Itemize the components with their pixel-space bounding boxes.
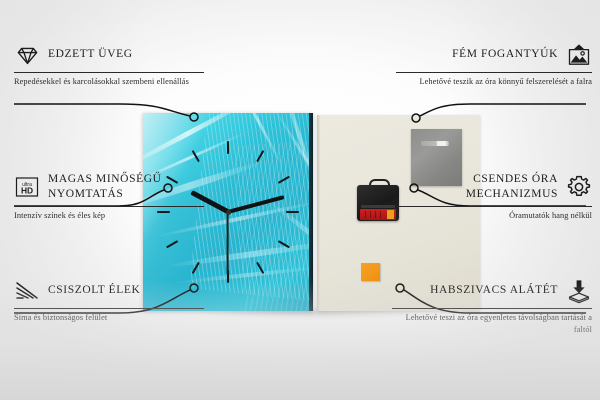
product-infographic: EDZETT ÜVEG Repedésekkel és karcolásokka…: [0, 0, 600, 400]
callout-divider: [396, 206, 592, 207]
callout-divider: [14, 206, 204, 207]
ultra-hd-icon: ultra HD: [14, 174, 40, 200]
glass-panel-edge: [309, 113, 313, 311]
callout-description: Sima és biztonságos felület: [14, 312, 204, 324]
callout-divider: [396, 72, 592, 73]
battery: [360, 209, 396, 220]
callout-title: MAGAS MINŐSÉGŰ NYOMTATÁS: [48, 172, 204, 202]
callout-title: FÉM FOGANTYÚK: [452, 47, 558, 62]
callout-header: CSISZOLT ÉLEK: [14, 278, 204, 304]
diamond-icon: [14, 42, 40, 68]
gear-icon: [566, 174, 592, 200]
mechanism-body: [357, 185, 399, 221]
callout-header: EDZETT ÜVEG: [14, 42, 204, 68]
callout-title: HABSZIVACS ALÁTÉT: [430, 283, 558, 298]
callout-high-quality-print: ultra HD MAGAS MINŐSÉGŰ NYOMTATÁS Intenz…: [14, 172, 204, 222]
callout-title: CSENDES ÓRA MECHANIZMUS: [396, 172, 558, 202]
callout-description: Lehetővé teszi az óra egyenletes távolsá…: [392, 312, 592, 336]
callout-description: Óramutatók hang nélkül: [396, 210, 592, 222]
callout-description: Intenzív színek és éles kép: [14, 210, 204, 222]
callout-divider: [14, 308, 204, 309]
callout-divider: [14, 72, 204, 73]
callout-header: CSENDES ÓRA MECHANIZMUS: [396, 172, 592, 202]
hanger-slot: [421, 141, 449, 146]
clock-minute-hand: [227, 195, 284, 214]
callout-polished-edges: CSISZOLT ÉLEK Sima és biztonságos felüle…: [14, 278, 204, 324]
foam-spacer-pad: [361, 263, 380, 281]
callout-header: FÉM FOGANTYÚK: [396, 42, 592, 68]
foam-pad-icon: [566, 278, 592, 304]
picture-hanger-icon: [566, 42, 592, 68]
callout-header: HABSZIVACS ALÁTÉT: [392, 278, 592, 304]
mechanism-slot: [361, 205, 395, 208]
polished-edges-icon: [14, 278, 40, 304]
callout-header: ultra HD MAGAS MINŐSÉGŰ NYOMTATÁS: [14, 172, 204, 202]
battery-terminal: [387, 210, 394, 219]
callout-metal-handles: FÉM FOGANTYÚK Lehetővé teszik az óra kön…: [396, 42, 592, 88]
callout-title: CSISZOLT ÉLEK: [48, 283, 140, 298]
callout-tempered-glass: EDZETT ÜVEG Repedésekkel és karcolásokka…: [14, 42, 204, 88]
callout-foam-pad: HABSZIVACS ALÁTÉT Lehetővé teszi az óra …: [392, 278, 592, 336]
callout-silent-mechanism: CSENDES ÓRA MECHANIZMUS Óramutatók hang …: [396, 172, 592, 222]
svg-text:HD: HD: [21, 186, 33, 196]
back-panel-edge: [317, 115, 320, 311]
callout-title: EDZETT ÜVEG: [48, 47, 133, 62]
callout-divider: [392, 308, 592, 309]
quartz-mechanism: [357, 179, 399, 221]
clock-center-cap: [226, 210, 231, 215]
clock-second-hand: [227, 212, 229, 274]
callout-description: Lehetővé teszik az óra könnyű felszerelé…: [396, 76, 592, 88]
callout-description: Repedésekkel és karcolásokkal szembeni e…: [14, 76, 204, 88]
